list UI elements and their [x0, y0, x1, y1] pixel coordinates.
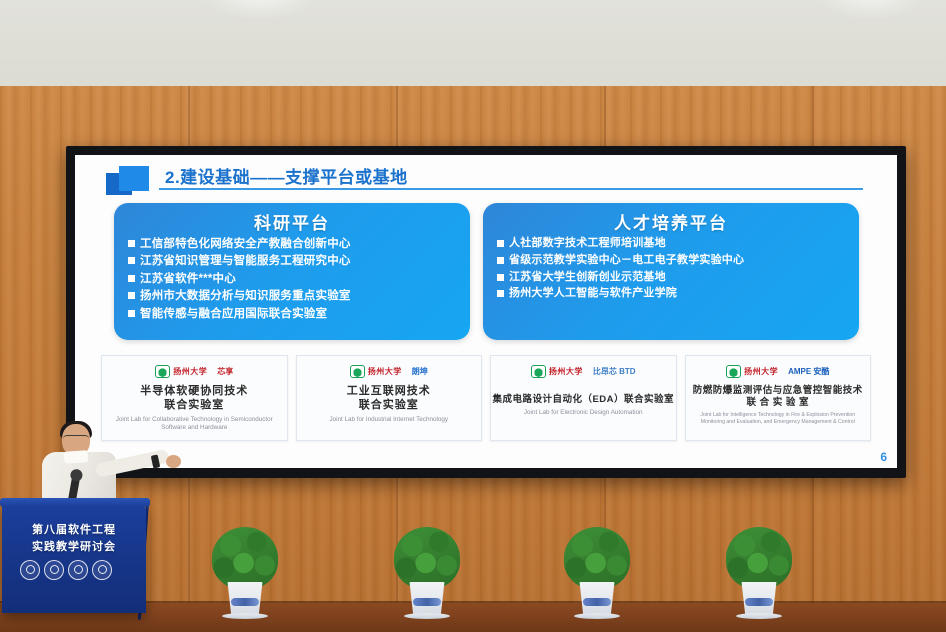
- card-title-en: Joint Lab for Electronic Design Automati…: [520, 409, 647, 417]
- bullet-marker-icon: [128, 310, 135, 317]
- plant-leaves: [212, 527, 278, 589]
- porcelain-pot: [578, 582, 616, 616]
- university-emblem-icon: [531, 365, 546, 378]
- speaker-collar: [64, 450, 89, 464]
- podium-logo-icon: [92, 560, 112, 580]
- plant-leaves: [564, 527, 630, 589]
- university-emblem-icon: [726, 365, 741, 378]
- card-title-line1: 防燃防爆监测评估与应急管控智能技术: [693, 385, 863, 397]
- plant-leaves: [726, 527, 792, 589]
- bullet-item: 智能传感与融合应用国际联合实验室: [128, 307, 470, 321]
- conference-room-photo: 2.建设基础——支撑平台或基地 科研平台 工信部特色化网络安全产教融合创新中心 …: [0, 0, 946, 632]
- glasses-icon: [63, 435, 89, 443]
- joint-lab-card: 扬州大学 比昂芯 BTD 集成电路设计自动化（EDA）联合实验室 Joint L…: [490, 355, 677, 441]
- podium-top-surface: [0, 498, 150, 507]
- bullet-item: 工信部特色化网络安全产教融合创新中心: [128, 237, 470, 251]
- university-name: 扬州大学: [368, 366, 402, 377]
- card-title-en: Joint Lab for Intelligence Technology in…: [686, 412, 871, 426]
- card-title-en: Joint Lab for Industrial Internet Techno…: [325, 416, 452, 424]
- bullet-text: 工信部特色化网络安全产教融合创新中心: [140, 237, 351, 251]
- bullet-text: 江苏省知识管理与智能服务工程研究中心: [140, 254, 351, 268]
- bullet-text: 省级示范教学实验中心－电工电子教学实验中心: [509, 254, 744, 268]
- podium-title-line1: 第八届软件工程: [2, 521, 146, 537]
- potted-plant: [208, 527, 282, 619]
- joint-lab-card-list: 扬州大学 芯享 半导体软硬协同技术 联合实验室 Joint Lab for Co…: [101, 355, 871, 441]
- joint-lab-card: 扬州大学 芯享 半导体软硬协同技术 联合实验室 Joint Lab for Co…: [101, 355, 288, 441]
- upper-wall: [0, 0, 946, 86]
- potted-plant: [722, 527, 796, 619]
- slide-title: 2.建设基础——支撑平台或基地: [165, 163, 408, 188]
- bullet-marker-icon: [128, 257, 135, 264]
- porcelain-pot: [226, 582, 264, 616]
- card-title-line1: 集成电路设计自动化（EDA）联合实验室: [492, 394, 674, 406]
- porcelain-pot: [408, 582, 446, 616]
- ceiling-light-glow: [816, 0, 926, 20]
- university-emblem-icon: [155, 365, 170, 378]
- card-logo-row: 扬州大学 AMPE 安酷: [726, 362, 829, 380]
- card-title-line2: 联合实验室: [347, 399, 431, 413]
- partner-logo: AMPE 安酷: [788, 366, 829, 377]
- title-underline: [159, 188, 863, 190]
- podium-logo-row: [20, 560, 112, 580]
- pot-saucer: [574, 613, 620, 619]
- bullet-marker-icon: [128, 240, 135, 247]
- plant-leaves: [394, 527, 460, 589]
- card-logo-row: 扬州大学 比昂芯 BTD: [531, 362, 636, 380]
- bullet-marker-icon: [497, 290, 504, 297]
- projector-screen-frame: 2.建设基础——支撑平台或基地 科研平台 工信部特色化网络安全产教融合创新中心 …: [66, 146, 906, 478]
- bullet-item: 江苏省大学生创新创业示范基地: [497, 271, 859, 285]
- card-logo-row: 扬州大学 芯享: [155, 362, 233, 380]
- potted-plant: [390, 527, 464, 619]
- card-title-en: Joint Lab for Collaborative Technology i…: [102, 416, 287, 432]
- bullet-item: 扬州大学人工智能与软件产业学院: [497, 287, 859, 301]
- partner-logo: 比昂芯 BTD: [593, 366, 636, 377]
- presentation-slide: 2.建设基础——支撑平台或基地 科研平台 工信部特色化网络安全产教融合创新中心 …: [75, 155, 897, 468]
- card-title-cn: 工业互联网技术 联合实验室: [347, 385, 431, 413]
- bullet-text: 智能传感与融合应用国际联合实验室: [140, 307, 327, 321]
- bullet-text: 人社部数字技术工程师培训基地: [509, 237, 666, 251]
- podium-title-line2: 实践教学研讨会: [2, 538, 146, 554]
- porcelain-pot: [740, 582, 778, 616]
- card-title-cn: 集成电路设计自动化（EDA）联合实验室: [492, 394, 674, 406]
- bullet-marker-icon: [497, 240, 504, 247]
- yangzhou-university-logo: 扬州大学: [155, 365, 207, 378]
- yangzhou-university-logo: 扬州大学: [350, 365, 402, 378]
- speaker-hand: [166, 455, 181, 468]
- university-name: 扬州大学: [744, 366, 778, 377]
- university-name: 扬州大学: [173, 366, 207, 377]
- university-name: 扬州大学: [549, 366, 583, 377]
- pot-saucer: [404, 613, 450, 619]
- card-title-line1: 工业互联网技术: [347, 385, 431, 399]
- pot-saucer: [736, 613, 782, 619]
- card-title-line2: 联合实验室: [140, 399, 248, 413]
- slide-page-number: 6: [880, 450, 887, 464]
- card-logo-row: 扬州大学 朗坤: [350, 362, 428, 380]
- yangzhou-university-logo: 扬州大学: [531, 365, 583, 378]
- panel-research-platform: 科研平台 工信部特色化网络安全产教融合创新中心 江苏省知识管理与智能服务工程研究…: [114, 203, 470, 340]
- card-title-cn: 半导体软硬协同技术 联合实验室: [140, 385, 248, 413]
- bullet-text: 扬州大学人工智能与软件产业学院: [509, 287, 677, 301]
- panel-title: 人才培养平台: [483, 209, 859, 234]
- panel-title: 科研平台: [114, 209, 470, 234]
- card-title-line1: 半导体软硬协同技术: [140, 385, 248, 399]
- square-decor-front-icon: [119, 166, 149, 191]
- university-emblem-icon: [350, 365, 365, 378]
- podium-banner: 第八届软件工程 实践教学研讨会: [2, 505, 146, 613]
- bullet-text: 江苏省大学生创新创业示范基地: [509, 271, 666, 285]
- bullet-marker-icon: [128, 275, 135, 282]
- podium-logo-icon: [20, 560, 40, 580]
- card-title-cn: 防燃防爆监测评估与应急管控智能技术 联 合 实 验 室: [693, 385, 863, 409]
- bullet-marker-icon: [128, 292, 135, 299]
- podium-logo-icon: [44, 560, 64, 580]
- bullet-item: 江苏省知识管理与智能服务工程研究中心: [128, 254, 470, 268]
- podium-logo-icon: [68, 560, 88, 580]
- bullet-item: 人社部数字技术工程师培训基地: [497, 237, 859, 251]
- bullet-marker-icon: [497, 257, 504, 264]
- yangzhou-university-logo: 扬州大学: [726, 365, 778, 378]
- joint-lab-card: 扬州大学 AMPE 安酷 防燃防爆监测评估与应急管控智能技术 联 合 实 验 室…: [685, 355, 872, 441]
- card-title-line2: 联 合 实 验 室: [693, 397, 863, 409]
- bullet-marker-icon: [497, 274, 504, 281]
- bullet-item: 江苏省软件***中心: [128, 272, 470, 286]
- bullet-item: 扬州市大数据分析与知识服务重点实验室: [128, 289, 470, 303]
- partner-logo: 芯享: [217, 366, 233, 377]
- partner-logo: 朗坤: [412, 366, 428, 377]
- joint-lab-card: 扬州大学 朗坤 工业互联网技术 联合实验室 Joint Lab for Indu…: [296, 355, 483, 441]
- pot-saucer: [222, 613, 268, 619]
- bullet-item: 省级示范教学实验中心－电工电子教学实验中心: [497, 254, 859, 268]
- panel-talent-training-platform: 人才培养平台 人社部数字技术工程师培训基地 省级示范教学实验中心－电工电子教学实…: [483, 203, 859, 340]
- potted-plant: [560, 527, 634, 619]
- bullet-text: 江苏省软件***中心: [140, 272, 236, 286]
- bullet-text: 扬州市大数据分析与知识服务重点实验室: [140, 289, 351, 303]
